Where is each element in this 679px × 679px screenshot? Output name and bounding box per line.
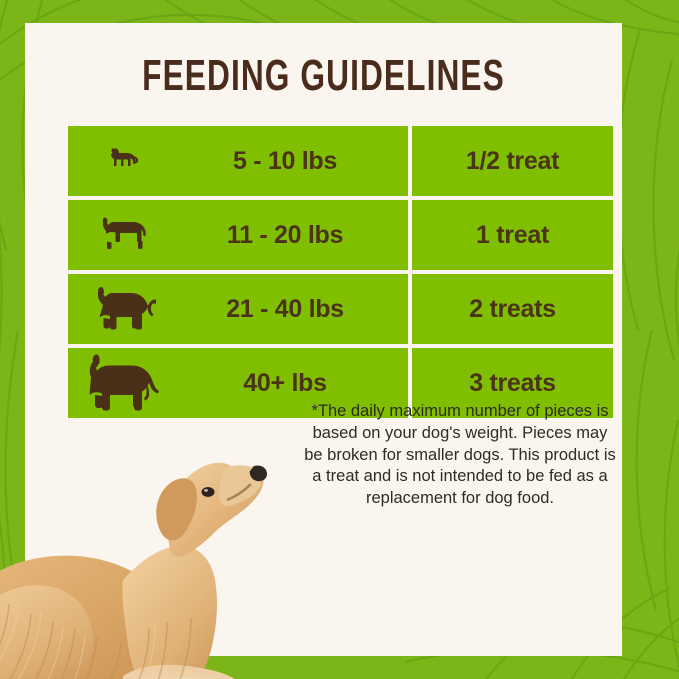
disclaimer-text: *The daily maximum number of pieces is b…	[304, 401, 616, 510]
small-dog-icon	[68, 146, 178, 176]
weight-label: 21 - 40 lbs	[178, 295, 408, 324]
small-medium-dog-icon	[68, 216, 178, 254]
amount-label: 1 treat	[476, 221, 549, 250]
amount-label: 2 treats	[469, 295, 556, 324]
table-row: 11 - 20 lbs 1 treat	[68, 200, 613, 270]
amount-cell: 1/2 treat	[412, 126, 613, 196]
amount-label: 3 treats	[469, 369, 556, 398]
weight-cell: 5 - 10 lbs	[68, 126, 408, 196]
amount-cell: 1 treat	[412, 200, 613, 270]
large-dog-icon	[68, 354, 178, 412]
table-row: 21 - 40 lbs 2 treats	[68, 274, 613, 344]
medium-dog-icon	[68, 285, 178, 333]
weight-label: 5 - 10 lbs	[178, 147, 408, 176]
page-title: FEEDING GUIDELINES	[109, 51, 539, 101]
weight-cell: 21 - 40 lbs	[68, 274, 408, 344]
page-frame: FEEDING GUIDELINES 5 - 10 lbs	[0, 0, 679, 679]
golden-retriever-photo	[0, 432, 303, 679]
weight-label: 11 - 20 lbs	[178, 221, 408, 250]
table-row: 5 - 10 lbs 1/2 treat	[68, 126, 613, 196]
feeding-guidelines-table: 5 - 10 lbs 1/2 treat	[68, 126, 613, 418]
amount-label: 1/2 treat	[466, 147, 559, 176]
amount-cell: 2 treats	[412, 274, 613, 344]
weight-label: 40+ lbs	[178, 369, 408, 398]
weight-cell: 11 - 20 lbs	[68, 200, 408, 270]
